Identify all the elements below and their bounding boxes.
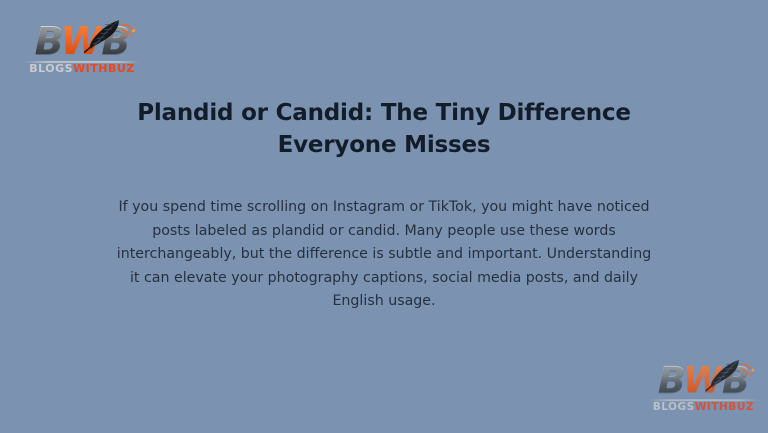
page-title: Plandid or Candid: The Tiny Difference E… [104,97,664,161]
brand-logo-watermark: BWB BLOGSWITHBUZ [640,358,767,418]
brand-logo-mark: BWB [16,18,148,64]
brand-wordmark: BWB [16,18,148,64]
brand-letter-b-second: B [101,19,129,63]
brand-logo-header[interactable]: BWB BLOGSWITHBUZ [16,18,148,80]
brand-letter-b-second-watermark: B [722,359,749,401]
brand-tagline-part2: WITHBUZ [73,62,135,75]
brand-letter-w-watermark: W [683,359,722,401]
slide-canvas: BWB BLOGSWITHBUZ Plandid or Candid: Th [0,0,768,433]
brand-tagline: BLOGSWITHBUZ [16,62,148,75]
brand-logo-mark-watermark: BWB [640,358,767,402]
brand-tagline-part2-watermark: WITHBUZ [695,400,754,412]
body-paragraph: If you spend time scrolling on Instagram… [114,196,654,314]
brand-letter-b-first: B [35,19,61,63]
brand-tagline-part1-watermark: BLOGS [653,400,695,412]
brand-tagline-part1: BLOGS [29,62,73,75]
brand-letter-w: W [61,19,102,63]
brand-letter-b-first-watermark: B [658,359,683,401]
brand-tagline-watermark: BLOGSWITHBUZ [640,400,767,412]
brand-wordmark-watermark: BWB [640,358,767,402]
